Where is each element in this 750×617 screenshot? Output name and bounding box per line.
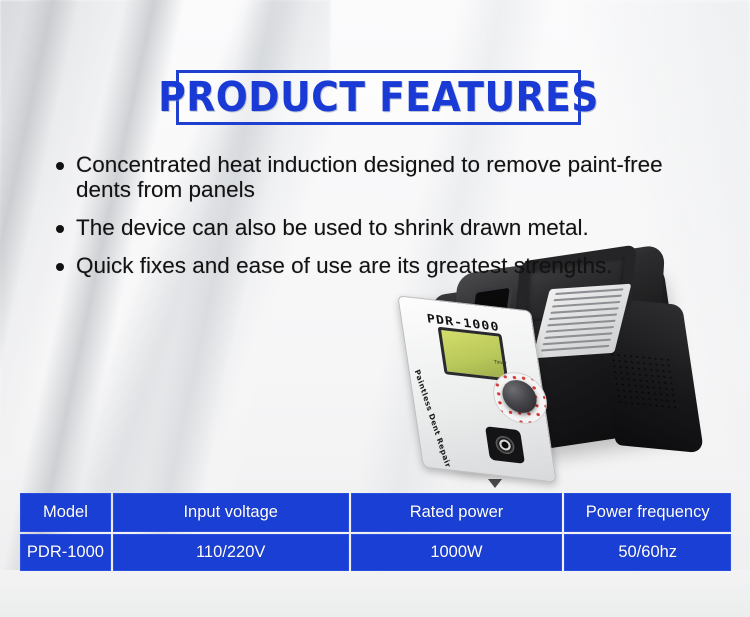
column-header-input-voltage: Input voltage — [113, 493, 349, 532]
column-header-model: Model — [20, 493, 111, 532]
table-row: PDR-1000 110/220V 1000W 50/60hz — [20, 534, 731, 571]
pointer-arrow-icon — [488, 479, 502, 488]
column-header-power-frequency: Power frequency — [564, 493, 731, 532]
cell-input-voltage: 110/220V — [113, 534, 349, 571]
feature-list: Concentrated heat induction designed to … — [56, 152, 666, 291]
cell-power-frequency: 50/60hz — [564, 534, 731, 571]
column-header-rated-power: Rated power — [351, 493, 563, 532]
vent-grille-icon — [609, 351, 681, 413]
table-header-row: Model Input voltage Rated power Power fr… — [20, 493, 731, 532]
page-title: PRODUCT FEATURES — [158, 77, 599, 118]
feature-text: The device can also be used to shrink dr… — [76, 215, 589, 240]
feature-text: Quick fixes and ease of use are its grea… — [76, 253, 613, 278]
bullet-dot-icon — [56, 225, 64, 233]
page-title-box: PRODUCT FEATURES — [176, 70, 581, 125]
cell-rated-power: 1000W — [351, 534, 563, 571]
feature-text: Concentrated heat induction designed to … — [76, 152, 666, 202]
product-features-slide: PRODUCT FEATURES Concentrated heat induc… — [0, 0, 750, 617]
specification-table: Model Input voltage Rated power Power fr… — [18, 491, 733, 573]
power-connector — [485, 426, 525, 464]
list-item: Quick fixes and ease of use are its grea… — [56, 253, 666, 278]
cell-model: PDR-1000 — [20, 534, 111, 571]
list-item: Concentrated heat induction designed to … — [56, 152, 666, 202]
bottom-background-strip — [0, 570, 750, 617]
list-item: The device can also be used to shrink dr… — [56, 215, 666, 240]
bullet-dot-icon — [56, 263, 64, 271]
bullet-dot-icon — [56, 162, 64, 170]
lcd-display — [438, 327, 509, 382]
